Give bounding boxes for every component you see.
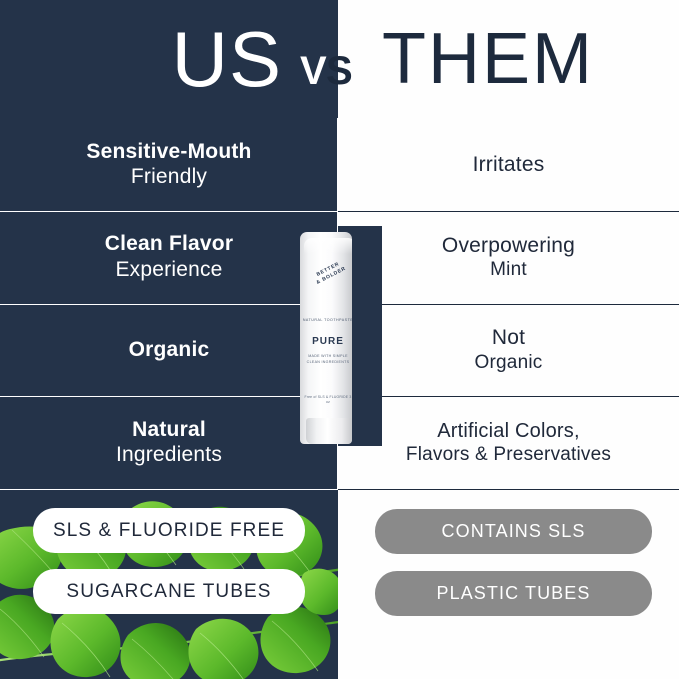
- badge-section-left: SLS & FLUORIDE FREE SUGARCANE TUBES: [0, 489, 338, 679]
- row-3-them-primary: Not: [492, 325, 525, 350]
- row-4-them-secondary: Flavors & Preservatives: [406, 443, 611, 467]
- row-3-us-primary: Organic: [129, 337, 210, 362]
- header-us: US: [0, 0, 290, 118]
- row-1-us-primary: Sensitive-Mouth: [86, 139, 251, 164]
- tube-shoulder-highlight: [304, 238, 352, 254]
- row-4-them-primary: Artificial Colors,: [437, 419, 580, 443]
- row-4-us-cell: Natural Ingredients: [0, 396, 338, 489]
- badge-them-1: CONTAINS SLS: [375, 509, 652, 554]
- tube-footnote: Free of SLS & FLUORIDE 3 oz: [302, 395, 352, 406]
- vs-letter-v: V: [300, 48, 327, 94]
- row-3-them-secondary: Organic: [475, 351, 543, 375]
- tube-body: BETTER & BOLDER NATURAL TOOTHPASTE PURE …: [300, 232, 352, 444]
- row-divider-4-left: [0, 489, 338, 490]
- row-2-us-primary: Clean Flavor: [105, 231, 233, 256]
- header-them-label: THEM: [382, 23, 594, 95]
- row-2-them-primary: Overpowering: [442, 233, 575, 258]
- row-divider-1-left: [0, 211, 338, 212]
- table-row: Sensitive-Mouth Friendly Irritates: [0, 118, 679, 211]
- row-divider-3-left: [0, 396, 338, 397]
- row-1-us-secondary: Friendly: [131, 164, 207, 190]
- row-4-us-primary: Natural: [132, 417, 206, 442]
- row-2-them-cell: Overpowering Mint: [338, 211, 679, 304]
- badge-section: SLS & FLUORIDE FREE SUGARCANE TUBES CONT…: [0, 489, 679, 679]
- row-divider-2-right: [338, 304, 679, 305]
- product-toothpaste-tube: BETTER & BOLDER NATURAL TOOTHPASTE PURE …: [296, 226, 382, 446]
- row-2-us-secondary: Experience: [115, 257, 222, 283]
- row-3-them-cell: Not Organic: [338, 304, 679, 397]
- row-1-us-cell: Sensitive-Mouth Friendly: [0, 118, 338, 211]
- row-divider-4: [0, 489, 679, 490]
- badge-us-2: SUGARCANE TUBES: [33, 569, 305, 614]
- header: US V S THEM: [0, 0, 679, 118]
- vs-letter-s: S: [326, 48, 353, 94]
- row-1-them-primary: Irritates: [473, 152, 545, 177]
- row-2-them-secondary: Mint: [490, 258, 527, 282]
- row-4-us-secondary: Ingredients: [116, 442, 222, 468]
- tube-description: MADE WITH SIMPLE CLEAN INGREDIENTS: [302, 354, 352, 366]
- tube-title: PURE: [302, 336, 352, 347]
- row-1-them-cell: Irritates: [338, 118, 679, 211]
- header-vs: V S: [296, 48, 376, 94]
- row-3-us-cell: Organic: [0, 304, 338, 397]
- row-divider-1-right: [338, 211, 679, 212]
- badge-us-1: SLS & FLUORIDE FREE: [33, 508, 305, 553]
- comparison-infographic: US V S THEM Sensitive-Mouth Friendly Irr…: [0, 0, 679, 679]
- tube-cap: [306, 418, 352, 444]
- row-4-them-cell: Artificial Colors, Flavors & Preservativ…: [338, 396, 679, 489]
- tube-subtitle: NATURAL TOOTHPASTE: [302, 318, 352, 323]
- header-them: THEM: [382, 0, 679, 118]
- badge-them-2: PLASTIC TUBES: [375, 571, 652, 616]
- row-2-us-cell: Clean Flavor Experience: [0, 211, 338, 304]
- header-us-label: US: [172, 20, 282, 98]
- row-divider-1: [0, 211, 679, 212]
- tube-brand-text: BETTER & BOLDER: [306, 256, 352, 290]
- row-divider-2-left: [0, 304, 338, 305]
- row-divider-4-right: [338, 489, 679, 490]
- row-divider-3-right: [338, 396, 679, 397]
